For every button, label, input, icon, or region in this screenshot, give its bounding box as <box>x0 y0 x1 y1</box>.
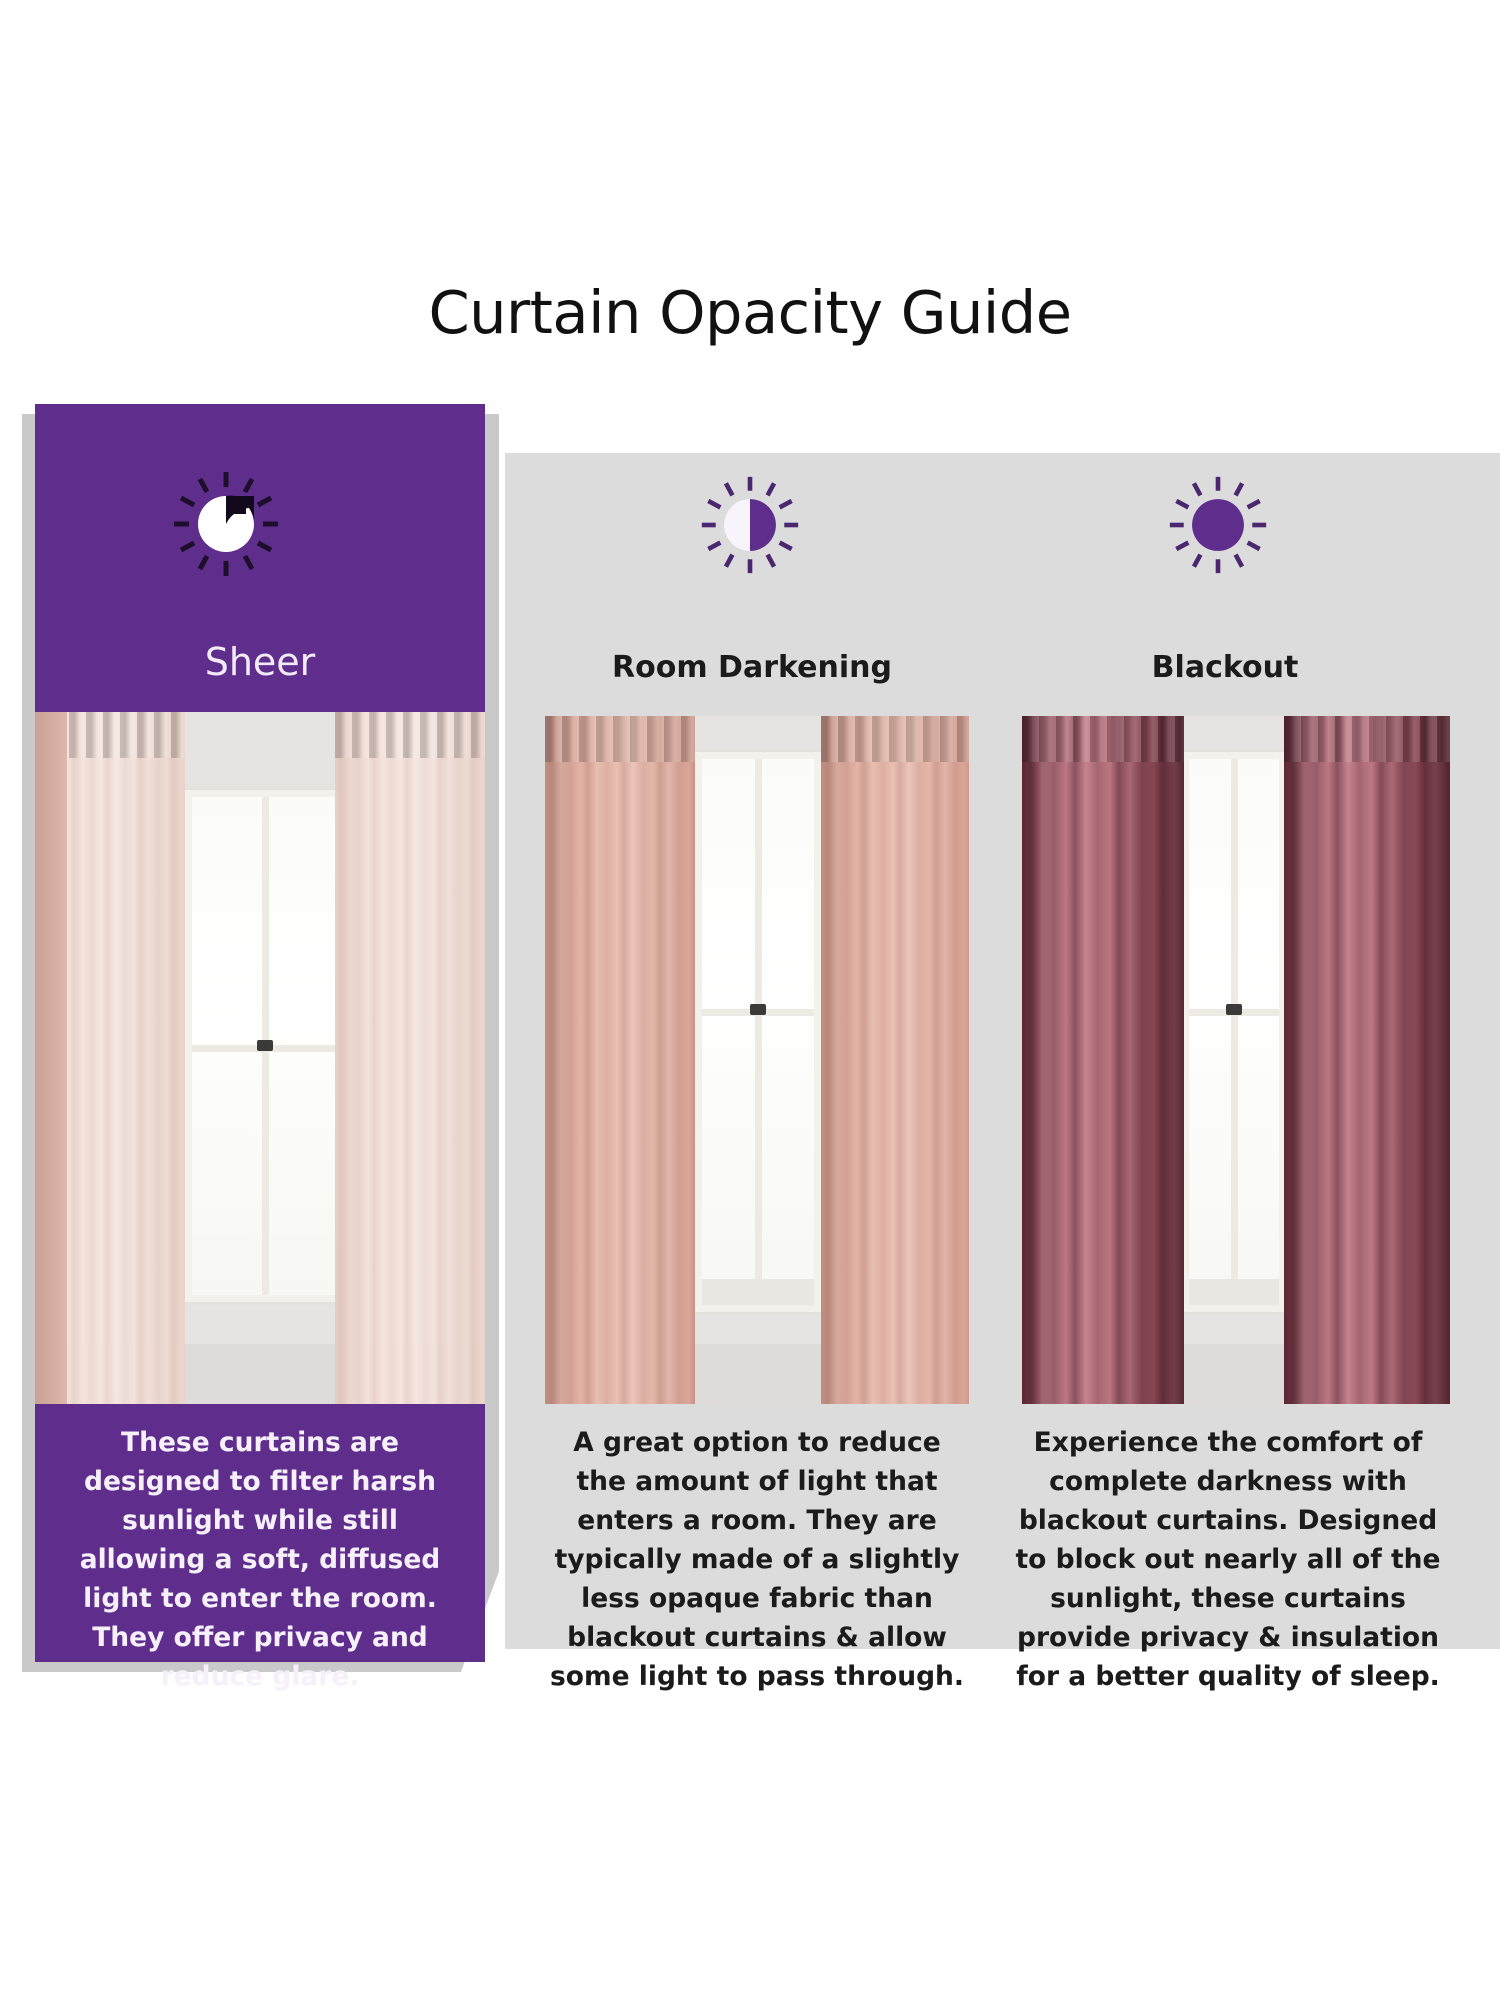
window-sill <box>1189 1279 1279 1305</box>
blackout-description: Experience the comfort of complete darkn… <box>1006 1424 1450 1697</box>
curtain-panel-right <box>335 712 485 1404</box>
photo-window <box>185 790 345 1302</box>
sun-full-icon <box>1168 475 1268 580</box>
curtain-pleat-header <box>335 712 485 758</box>
curtain-panel-right <box>1284 716 1450 1404</box>
page-title: Curtain Opacity Guide <box>0 278 1500 347</box>
curtain-pleat-header <box>821 716 969 762</box>
room-darkening-curtain-photo <box>545 716 969 1404</box>
curtain-opacity-guide-page: Curtain Opacity Guide <box>0 0 1500 2000</box>
photo-window <box>1182 752 1286 1312</box>
sheer-curtain-photo <box>35 712 485 1404</box>
curtain-panel-left <box>545 716 695 1404</box>
window-mullion-vertical <box>1231 759 1238 1305</box>
window-mullion-vertical <box>755 759 762 1305</box>
photo-window <box>695 752 821 1312</box>
curtain-panel-left <box>1022 716 1184 1404</box>
curtain-pleat-header <box>545 716 695 762</box>
window-latch <box>1226 1004 1242 1015</box>
curtain-panel-far-left <box>35 712 67 1404</box>
window-latch <box>257 1040 273 1051</box>
window-latch <box>750 1004 766 1015</box>
curtain-pleat-header <box>1022 716 1184 762</box>
curtain-panel-right <box>821 716 969 1404</box>
curtain-pleat-header <box>1284 716 1450 762</box>
room-darkening-label: Room Darkening <box>532 650 972 685</box>
blackout-label: Blackout <box>1000 650 1450 685</box>
sheer-description: These curtains are designed to filter ha… <box>35 1424 485 1697</box>
room-darkening-description: A great option to reduce the amount of l… <box>545 1424 969 1697</box>
sheer-label: Sheer <box>35 640 485 684</box>
sun-quarter-icon <box>172 470 280 583</box>
sun-half-icon <box>700 475 800 580</box>
window-sill <box>702 1279 814 1305</box>
blackout-curtain-photo <box>1022 716 1450 1404</box>
